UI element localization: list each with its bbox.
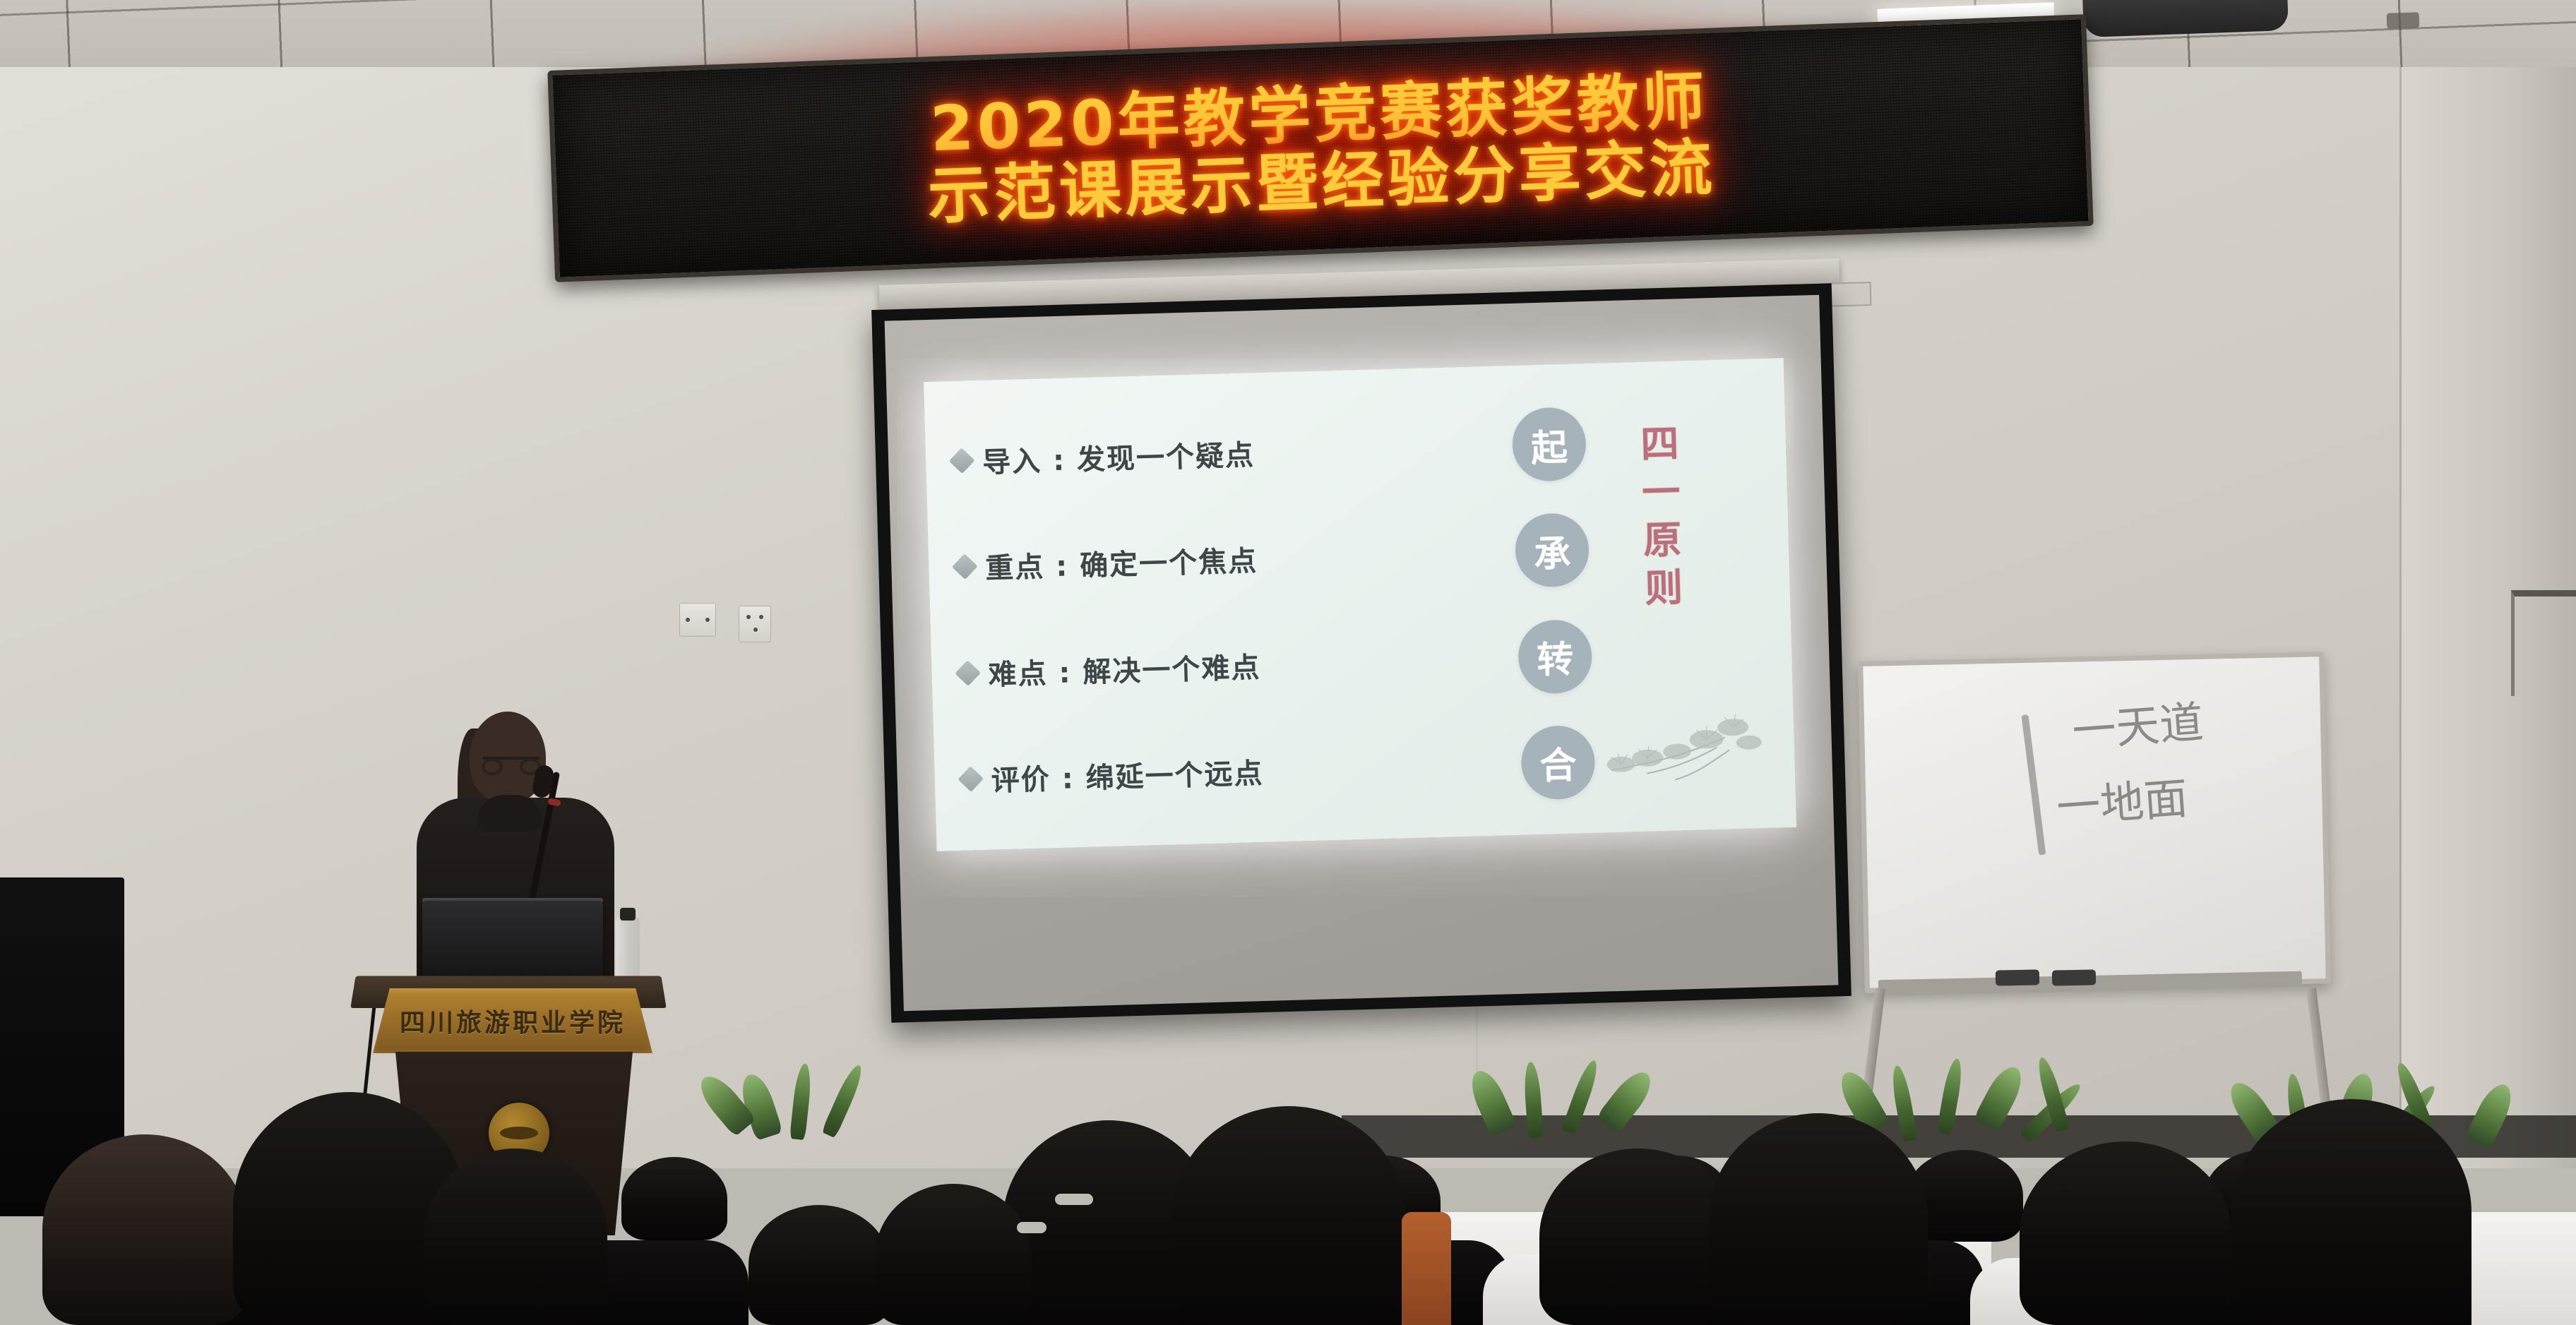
list-item: 评价 : 绵延一个远点 [961, 743, 1505, 799]
projection-surface: 导入 : 发现一个疑点 重点 : 确定一个焦点 难点 : 解决一个难点 评价 :… [885, 295, 1839, 1012]
lecture-hall-photo: 2020年教学竞赛获奖教师 示范课展示暨经验分享交流 导入 : 发现一个疑点 重… [0, 0, 2576, 1325]
slide-bullet-list: 导入 : 发现一个疑点 重点 : 确定一个焦点 难点 : 解决一个难点 评价 :… [951, 385, 1507, 832]
audience-head [2231, 1099, 2471, 1325]
audience-head [749, 1205, 890, 1325]
diamond-bullet-icon [955, 660, 981, 686]
list-item: 难点 : 解决一个难点 [958, 637, 1503, 693]
status-badge: 合 [1520, 725, 1596, 801]
audience-head [876, 1184, 1031, 1325]
audience-head [424, 1149, 607, 1325]
hair-clip-icon [1055, 1194, 1093, 1205]
pine-branch-ink-icon [1602, 687, 1782, 798]
laptop-icon [422, 901, 603, 984]
hair-clip-icon [1017, 1222, 1046, 1233]
wall-outlet-right [739, 606, 771, 642]
list-item: 重点 : 确定一个焦点 [955, 532, 1500, 587]
presenter-collar [477, 795, 542, 832]
status-badge: 转 [1517, 619, 1593, 695]
audience-scarf [1402, 1212, 1451, 1325]
diamond-bullet-icon [949, 448, 975, 474]
status-badge: 起 [1511, 407, 1587, 482]
whiteboard-surface: 一天道 一地面 [1858, 652, 2331, 993]
presentation-slide: 导入 : 发现一个疑点 重点 : 确定一个焦点 难点 : 解决一个难点 评价 :… [924, 358, 1796, 851]
audience-head [1539, 1149, 1737, 1325]
whiteboard-line-1: 一天道 [2070, 695, 2205, 759]
diamond-bullet-icon [958, 766, 984, 792]
wall-corner-frame [2511, 590, 2576, 696]
air-vent-icon [2387, 12, 2420, 29]
audience [0, 993, 2576, 1325]
wall-outlet-left [679, 603, 716, 637]
slide-bullet-text: 难点 : 解决一个难点 [988, 644, 1261, 693]
whiteboard-brace-mark [2021, 714, 2046, 856]
slide-badge-column: 起 承 转 合 [1494, 381, 1612, 817]
water-bottle-cap [620, 908, 636, 921]
slide-bullet-text: 导入 : 发现一个疑点 [982, 432, 1255, 481]
slide-bullet-text: 重点 : 确定一个焦点 [985, 538, 1258, 587]
projection-screen: 导入 : 发现一个疑点 重点 : 确定一个焦点 难点 : 解决一个难点 评价 :… [871, 283, 1851, 1023]
whiteboard-line-2: 一地面 [2055, 769, 2211, 834]
audience-head [2020, 1141, 2231, 1325]
list-item: 导入 : 发现一个疑点 [952, 426, 1496, 481]
audience-head [42, 1134, 247, 1325]
audience-head [1172, 1106, 1405, 1325]
whiteboard-text: 一天道 一地面 [2070, 695, 2211, 833]
status-badge: 承 [1515, 512, 1590, 588]
slide-bullet-text: 评价 : 绵延一个远点 [991, 750, 1264, 799]
glasses-icon [483, 757, 539, 772]
audience-head [621, 1157, 727, 1240]
slide-side-panel: 四一原则 [1600, 377, 1775, 814]
audience-head [1709, 1113, 1928, 1325]
slide-vertical-title: 四一原则 [1628, 423, 1690, 616]
diamond-bullet-icon [952, 554, 978, 580]
